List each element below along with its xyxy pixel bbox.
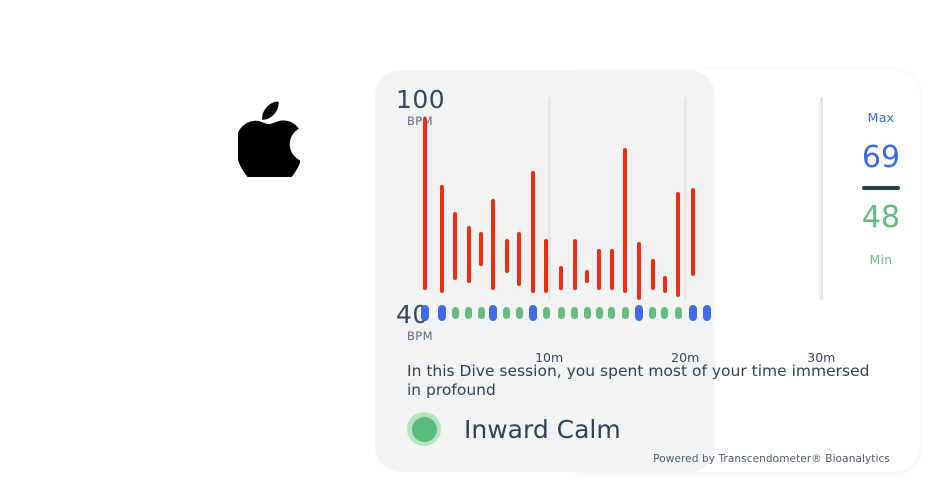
state-indicator-core: [412, 417, 437, 442]
state-marker-dot: [689, 305, 697, 321]
minmax-stats: Max 69 48 Min: [820, 110, 936, 267]
state-marker-dot: [465, 307, 472, 319]
state-marker-dot: [558, 307, 565, 319]
session-summary-text: In this Dive session, you spent most of …: [407, 362, 887, 400]
bar: [467, 226, 471, 284]
bar: [663, 276, 667, 293]
state-marker-dot: [584, 307, 591, 319]
state-marker-dot: [675, 307, 682, 319]
state-marker-dot: [622, 307, 629, 319]
state-label: Inward Calm: [464, 415, 621, 444]
state-marker-dot: [438, 305, 446, 321]
state-marker-dot: [608, 307, 615, 319]
min-caption: Min: [820, 252, 936, 267]
y-axis-min-unit: BPM: [407, 329, 433, 343]
state-marker-dot: [543, 307, 550, 319]
state-marker-dot: [649, 307, 656, 319]
bar: [610, 249, 614, 290]
bar: [573, 239, 577, 290]
bar: [559, 266, 563, 290]
state-marker-dot: [503, 307, 510, 319]
state-marker-dot: [452, 307, 459, 319]
bar: [479, 232, 483, 266]
bar: [544, 239, 548, 293]
state-marker-dot: [421, 305, 429, 321]
state-marker-dot: [571, 307, 578, 319]
state-indicator-icon: [407, 412, 441, 446]
bar: [651, 259, 655, 289]
bar: [505, 239, 509, 273]
bar: [440, 185, 444, 293]
bar: [423, 117, 427, 290]
bar: [676, 192, 680, 297]
bar: [531, 171, 535, 293]
state-marker-dot: [478, 307, 485, 319]
bar: [491, 199, 495, 290]
bar: [453, 212, 457, 280]
state-row: Inward Calm: [407, 412, 621, 446]
state-marker-dot: [661, 307, 668, 319]
state-marker-dot: [703, 305, 711, 321]
bar: [597, 249, 601, 290]
bar: [517, 232, 521, 286]
bar: [691, 188, 695, 276]
bar: [637, 242, 641, 300]
bar: [623, 148, 627, 293]
state-marker-dot: [516, 307, 523, 319]
apple-logo-icon: [238, 101, 300, 177]
max-value: 69: [820, 142, 936, 174]
state-marker-dot: [596, 307, 603, 319]
bar: [585, 270, 589, 284]
stats-rule: [862, 186, 900, 190]
min-value: 48: [820, 202, 936, 234]
state-marker-dot: [635, 305, 643, 321]
stats-divider: [819, 102, 821, 298]
max-caption: Max: [820, 110, 936, 125]
state-marker-dot: [489, 305, 497, 321]
state-marker-dot: [529, 305, 537, 321]
state-marker-series: [413, 305, 903, 321]
powered-by-note: Powered by Transcendometer® Bioanalytics: [653, 453, 890, 465]
